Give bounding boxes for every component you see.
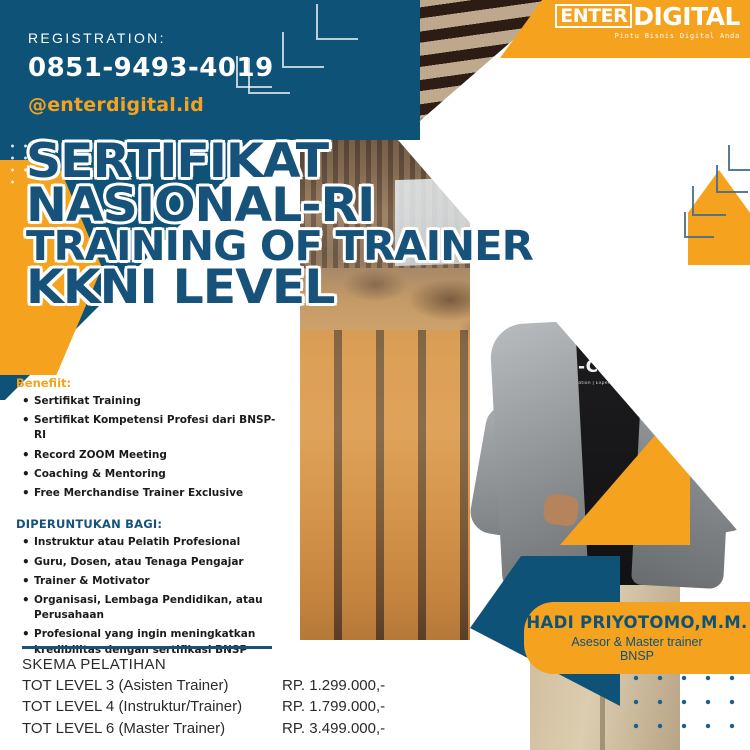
list-item: Instruktur atau Pelatih Profesional — [34, 535, 284, 550]
benefit-list: Sertifikat Training Sertifikat Kompetens… — [34, 394, 284, 501]
info-lists: Benefiit: Sertifikat Training Sertifikat… — [16, 376, 284, 662]
list-item: Sertifikat Training — [34, 394, 284, 409]
pricing-title: SKEMA PELATIHAN — [22, 656, 442, 673]
logo-enter-badge: ENTER — [555, 4, 632, 28]
portrait-jacket-left — [489, 321, 589, 590]
audience-heading: DIPERUNTUKAN BAGI: — [16, 517, 284, 531]
price-label: TOT LEVEL 6 (Master Trainer) — [22, 718, 282, 739]
trainer-role-line-1: Asesor & Master trainer — [571, 635, 702, 649]
list-item: Trainer & Motivator — [34, 574, 284, 589]
list-item: Free Merchandise Trainer Exclusive — [34, 486, 284, 501]
list-item: Record ZOOM Meeting — [34, 448, 284, 463]
list-item: Guru, Dosen, atau Tenaga Pengajar — [34, 555, 284, 570]
trainer-role: Asesor & Master trainer BNSP — [571, 635, 702, 663]
audience-list: Instruktur atau Pelatih Profesional Guru… — [34, 535, 284, 658]
table-row: TOT LEVEL 6 (Master Trainer) RP. 3.499.0… — [22, 718, 442, 739]
title-line-4: KKNI LEVEL — [26, 266, 543, 310]
corner-bracket-icon-8 — [684, 212, 714, 238]
benefit-heading: Benefiit: — [16, 376, 284, 390]
trainer-role-line-2: BNSP — [620, 649, 654, 663]
registration-phone[interactable]: 0851-9493-4019 — [28, 53, 274, 83]
logo-digital-text: DIGITAL — [633, 2, 740, 31]
logo-wordmark: ENTERDIGITAL — [555, 4, 740, 29]
poster-title: SERTIFIKAT NASIONAL-RI TRAINING OF TRAIN… — [26, 140, 523, 309]
registration-instagram-handle[interactable]: @enterdigital.id — [28, 94, 274, 116]
list-spacer — [16, 505, 284, 517]
price-amount: RP. 1.299.000,- — [282, 675, 385, 696]
price-label: TOT LEVEL 4 (Instruktur/Trainer) — [22, 696, 282, 717]
pricing-section: SKEMA PELATIHAN TOT LEVEL 3 (Asisten Tra… — [22, 646, 442, 739]
table-row: TOT LEVEL 4 (Instruktur/Trainer) RP. 1.7… — [22, 696, 442, 717]
portrait-left-hand — [542, 493, 580, 527]
price-amount: RP. 3.499.000,- — [282, 718, 385, 739]
registration-label: REGISTRATION: — [28, 30, 274, 46]
brand-logo[interactable]: ENTERDIGITAL Pintu Bisnis Digital Anda — [555, 4, 740, 40]
price-amount: RP. 1.799.000,- — [282, 696, 385, 717]
logo-tagline: Pintu Bisnis Digital Anda — [555, 33, 740, 40]
list-item: Sertifikat Kompetensi Profesi dari BNSP-… — [34, 413, 284, 443]
registration-block: REGISTRATION: 0851-9493-4019 @enterdigit… — [28, 30, 274, 116]
trainer-nameplate: HADI PRIYOTOMO,M.M. Asesor & Master trai… — [524, 602, 750, 674]
price-label: TOT LEVEL 3 (Asisten Trainer) — [22, 675, 282, 696]
table-row: TOT LEVEL 3 (Asisten Trainer) RP. 1.299.… — [22, 675, 442, 696]
list-item: Coaching & Mentoring — [34, 467, 284, 482]
list-item: Organisasi, Lembaga Pendidikan, atau Per… — [34, 593, 284, 623]
title-line-2: NASIONAL-RI — [26, 184, 543, 228]
promotional-poster: G-COACH Exploration | Experience Expert … — [0, 0, 750, 750]
pricing-divider — [22, 646, 272, 649]
trainer-name: HADI PRIYOTOMO,M.M. — [526, 613, 747, 632]
